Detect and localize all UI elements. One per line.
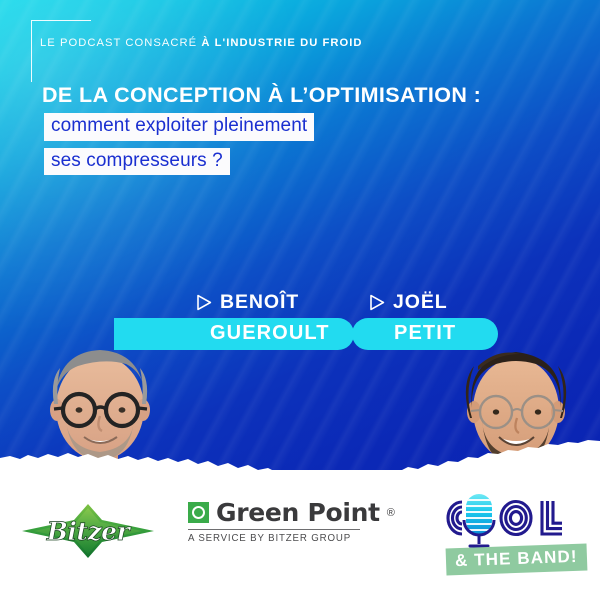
subtitle-line-2: ses compresseurs ? <box>44 148 230 176</box>
cool-and-the-band-logo: & THE BAND! <box>440 490 590 559</box>
bitzer-star-logo: Bitzer <box>18 500 158 562</box>
speaker-first-name-row: JOËL <box>369 291 498 314</box>
bitzer-logo: Bitzer <box>18 500 158 567</box>
green-point-rule <box>188 529 360 530</box>
and-the-band-banner: & THE BAND! <box>446 544 587 576</box>
and-the-band-text: & THE BAND! <box>455 547 578 570</box>
eyebrow-light-text: LE PODCAST CONSACRÉ <box>40 37 197 49</box>
speaker-benoit: BENOÎT GUEROULT <box>196 291 354 350</box>
svg-text:Bitzer: Bitzer <box>46 517 132 546</box>
speaker-last-name: PETIT <box>352 318 498 350</box>
play-triangle-icon <box>196 294 212 311</box>
speaker-first-name-row: BENOÎT <box>196 291 354 314</box>
speaker-joel: JOËL PETIT <box>369 291 498 350</box>
footer-logo-bar: Bitzer Green Point ® A SERVICE BY BITZER… <box>0 488 600 600</box>
torn-paper-edge <box>0 412 600 492</box>
green-point-tagline: A SERVICE BY BITZER GROUP <box>188 533 395 544</box>
eyebrow-bold-text: À L'INDUSTRIE DU FROID <box>201 37 362 49</box>
speaker-first-name: BENOÎT <box>220 291 299 314</box>
corner-bracket-decoration <box>31 20 91 82</box>
subtitle-block: comment exploiter pleinement ses compres… <box>44 113 314 175</box>
green-point-name-row: Green Point ® <box>188 500 395 525</box>
green-point-square-icon <box>188 502 209 523</box>
podcast-poster: LE PODCAST CONSACRÉ À L'INDUSTRIE DU FRO… <box>0 0 600 600</box>
page-title: DE LA CONCEPTION À L’OPTIMISATION : <box>42 83 481 108</box>
microphone-icon <box>464 494 494 546</box>
green-point-logo: Green Point ® A SERVICE BY BITZER GROUP <box>188 500 395 544</box>
green-point-ring <box>192 506 205 519</box>
registered-mark: ® <box>387 507 395 519</box>
speaker-first-name: JOËL <box>393 291 448 314</box>
eyebrow-text: LE PODCAST CONSACRÉ À L'INDUSTRIE DU FRO… <box>40 37 363 49</box>
speaker-last-name: GUEROULT <box>114 318 354 350</box>
green-point-name: Green Point <box>216 500 380 525</box>
subtitle-line-1: comment exploiter pleinement <box>44 113 314 141</box>
play-triangle-icon <box>369 294 385 311</box>
